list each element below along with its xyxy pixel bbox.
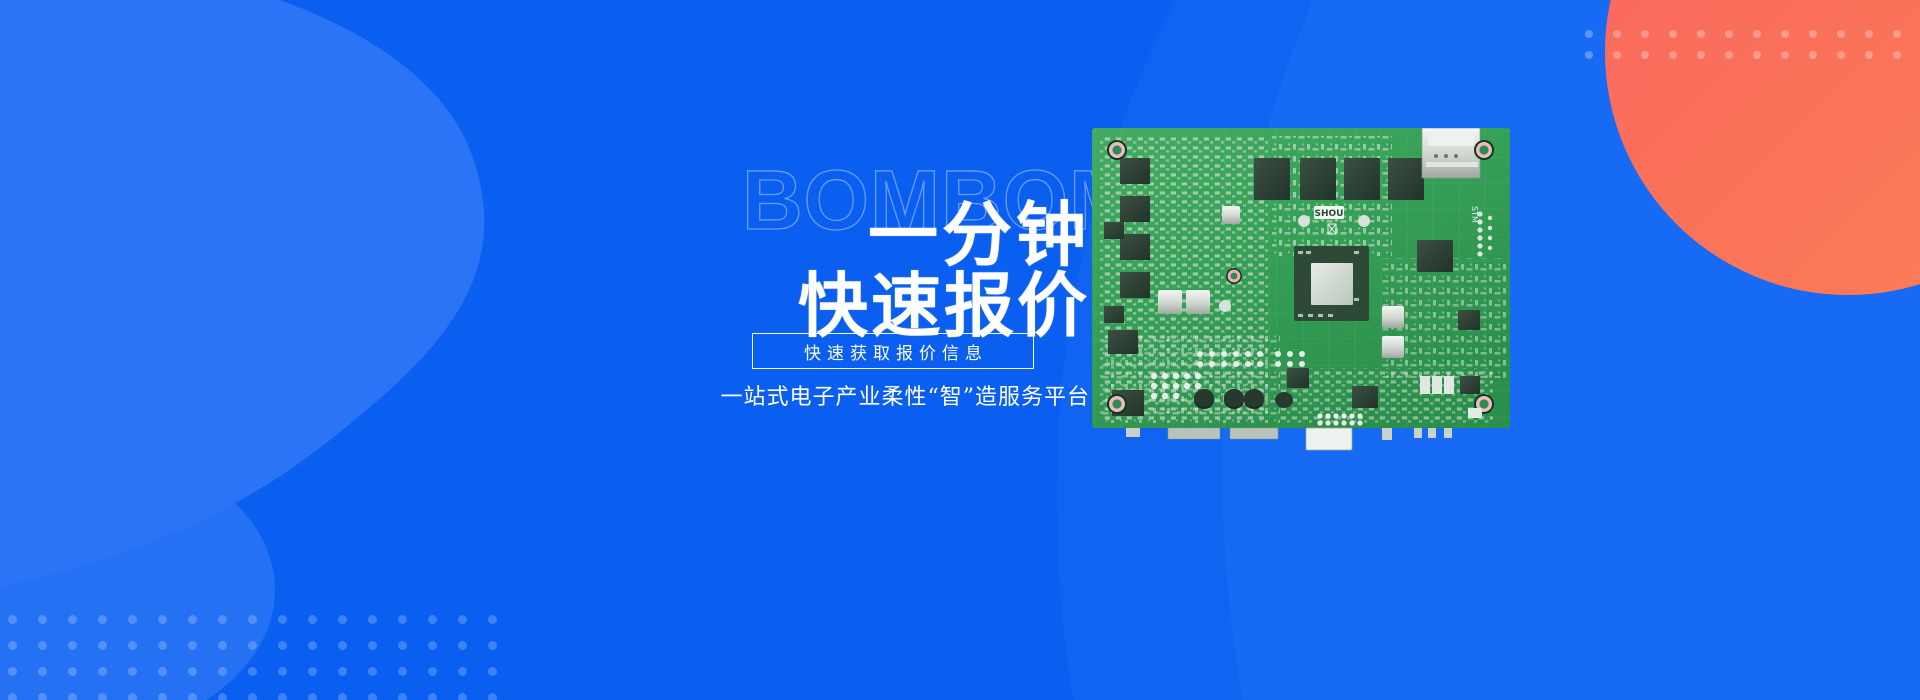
decor-dot bbox=[128, 667, 137, 676]
get-quote-button[interactable]: 快速获取报价信息 bbox=[752, 333, 1034, 369]
promo-banner: BOMBOM 一分钟 快速报价 快速获取报价信息 一站式电子产业柔性“智”造服务… bbox=[0, 0, 1920, 700]
decor-dot bbox=[278, 641, 287, 650]
decor-dot bbox=[68, 615, 77, 624]
decor-dot bbox=[488, 667, 497, 676]
decor-dot bbox=[1641, 51, 1649, 59]
pcb-silkscreen-label: SHOU bbox=[1315, 209, 1344, 219]
decor-dot bbox=[308, 667, 317, 676]
dot-row bbox=[1585, 51, 1920, 59]
decor-dot bbox=[1613, 51, 1621, 59]
decor-dot bbox=[1753, 30, 1761, 38]
dot-row bbox=[8, 667, 518, 676]
decor-dot bbox=[458, 641, 467, 650]
decor-dot bbox=[1865, 51, 1873, 59]
decor-dot bbox=[428, 641, 437, 650]
decor-dot bbox=[338, 693, 347, 700]
decor-dot bbox=[488, 615, 497, 624]
decor-dot bbox=[188, 693, 197, 700]
decor-dot bbox=[128, 693, 137, 700]
decor-dot bbox=[248, 693, 257, 700]
decor-dot bbox=[1613, 30, 1621, 38]
decor-dot bbox=[68, 667, 77, 676]
decor-dot bbox=[248, 641, 257, 650]
decor-dot bbox=[398, 667, 407, 676]
decor-dot bbox=[1753, 51, 1761, 59]
headline-line-1: 一分钟 bbox=[620, 200, 1090, 271]
decor-dot bbox=[1893, 30, 1901, 38]
dot-row bbox=[8, 693, 518, 700]
decor-dot bbox=[458, 693, 467, 700]
decor-dot bbox=[1585, 51, 1593, 59]
decor-dot bbox=[308, 641, 317, 650]
decor-dot bbox=[38, 667, 47, 676]
decor-dot bbox=[38, 615, 47, 624]
decor-dot bbox=[1697, 51, 1705, 59]
decor-dot bbox=[8, 667, 17, 676]
decor-dot bbox=[98, 641, 107, 650]
decor-dot bbox=[8, 693, 17, 700]
decor-dot bbox=[158, 641, 167, 650]
decor-dot bbox=[488, 641, 497, 650]
decor-dot bbox=[68, 641, 77, 650]
decor-dot bbox=[398, 641, 407, 650]
decor-dot bbox=[1865, 30, 1873, 38]
decor-dot bbox=[338, 615, 347, 624]
decor-dot bbox=[1669, 51, 1677, 59]
decor-dot bbox=[218, 641, 227, 650]
dot-row bbox=[1585, 30, 1920, 38]
decor-dot bbox=[368, 667, 377, 676]
decor-dot bbox=[368, 641, 377, 650]
decor-dot bbox=[188, 615, 197, 624]
decor-dot bbox=[278, 693, 287, 700]
decor-dot bbox=[428, 693, 437, 700]
decor-dot bbox=[278, 615, 287, 624]
decor-dot bbox=[428, 667, 437, 676]
decor-dot bbox=[158, 667, 167, 676]
decor-dot bbox=[8, 615, 17, 624]
dot-grid-top-right bbox=[1585, 30, 1920, 72]
tagline: 一站式电子产业柔性“智”造服务平台 bbox=[620, 379, 1090, 411]
decor-dot bbox=[68, 693, 77, 700]
decor-dot bbox=[1697, 30, 1705, 38]
decor-dot bbox=[98, 615, 107, 624]
decor-dot bbox=[458, 615, 467, 624]
decor-dot bbox=[218, 615, 227, 624]
decor-dot bbox=[1809, 30, 1817, 38]
decor-dot bbox=[458, 667, 467, 676]
decor-dot bbox=[428, 615, 437, 624]
decor-dot bbox=[158, 693, 167, 700]
decor-dot bbox=[158, 615, 167, 624]
decor-dot bbox=[218, 667, 227, 676]
decor-dot bbox=[38, 641, 47, 650]
decor-dot bbox=[368, 615, 377, 624]
decor-dot bbox=[98, 693, 107, 700]
decor-dot bbox=[308, 615, 317, 624]
decor-dot bbox=[1669, 30, 1677, 38]
dot-grid-bottom-left bbox=[8, 615, 518, 700]
decor-dot bbox=[1725, 30, 1733, 38]
decor-dot bbox=[218, 693, 227, 700]
decor-dot bbox=[128, 615, 137, 624]
decor-dot bbox=[278, 667, 287, 676]
decor-dot bbox=[398, 615, 407, 624]
decor-dot bbox=[1809, 51, 1817, 59]
decor-dot bbox=[368, 693, 377, 700]
decor-dot bbox=[1781, 51, 1789, 59]
decor-dot bbox=[1585, 30, 1593, 38]
decor-dot bbox=[8, 641, 17, 650]
decor-dot bbox=[1837, 30, 1845, 38]
decor-dot bbox=[1837, 51, 1845, 59]
decor-dot bbox=[398, 693, 407, 700]
decor-dot bbox=[1893, 51, 1901, 59]
decor-dot bbox=[248, 615, 257, 624]
decor-dot bbox=[338, 667, 347, 676]
decor-dot bbox=[98, 667, 107, 676]
pcb-board-image: SHOU STM bbox=[1082, 118, 1522, 458]
decor-dot bbox=[1725, 51, 1733, 59]
dot-row bbox=[8, 615, 518, 624]
decor-dot bbox=[308, 693, 317, 700]
decor-dot bbox=[188, 667, 197, 676]
decor-dot bbox=[1781, 30, 1789, 38]
decor-dot bbox=[188, 641, 197, 650]
decor-dot bbox=[488, 693, 497, 700]
decor-dot bbox=[248, 667, 257, 676]
decor-dot bbox=[38, 693, 47, 700]
decor-dot bbox=[128, 641, 137, 650]
dot-row bbox=[8, 641, 518, 650]
decor-dot bbox=[1641, 30, 1649, 38]
headline: 一分钟 快速报价 bbox=[620, 200, 1090, 343]
decor-dot bbox=[338, 641, 347, 650]
